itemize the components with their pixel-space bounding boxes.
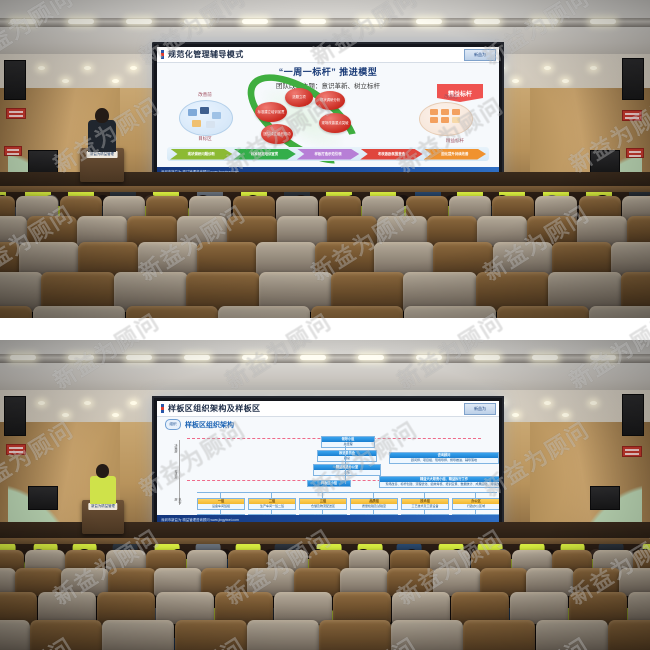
panel-divider: [0, 318, 650, 340]
slide-body-bottom: 组织 样板区组织架构 决策层 推进层 执行层 领导小组: [157, 416, 499, 515]
before-state-bubble: [179, 100, 233, 136]
ceiling-light: [184, 355, 210, 360]
process-step-line: 问题诊断: [201, 152, 215, 156]
process-step-line: 考核激励: [378, 152, 392, 156]
node-leadership-body: 总经理: [322, 442, 374, 447]
speaker-right-upper: [622, 58, 644, 100]
ceiling-downlight: [544, 66, 551, 70]
auditorium-seat: [497, 306, 589, 318]
section-badge: 组织: [165, 419, 181, 430]
ceiling-light: [300, 355, 326, 360]
cycle-node-3: 现场改善重点突破: [319, 113, 351, 133]
ceiling-downlight: [512, 413, 519, 417]
ceiling-downlight: [38, 66, 45, 70]
caption-benchmark: 精益标杆: [425, 138, 485, 144]
ceiling-downlight: [84, 401, 91, 405]
ceiling-downlight: [590, 66, 597, 70]
auditorium-seat: [0, 306, 32, 318]
speaker-left-lower: [28, 150, 58, 174]
process-step-2: 样板打造示范引领: [297, 149, 359, 160]
process-step-line: 样板打造: [314, 152, 328, 156]
cycle-node-line: 标准建立: [257, 110, 271, 114]
slide-logo-top: 新益为: [464, 49, 496, 61]
slide-main-title: “一周一标杆” 推进模型: [157, 65, 499, 78]
auditorium-seat: [247, 620, 319, 650]
ceiling-downlight: [130, 66, 137, 70]
process-step-3: 考核激励氛围营造: [360, 149, 422, 160]
presenter-head-bottom: [96, 464, 109, 478]
auditorium-seat: [138, 242, 198, 276]
org-box: 技术组工艺技术及工装设备: [401, 498, 449, 510]
connector-horizontal-columns: [197, 492, 497, 493]
org-column-connector: [220, 509, 221, 514]
caption-after: 改善后: [421, 94, 481, 100]
ceiling-downlight: [562, 79, 569, 83]
org-chart: 决策层 推进层 执行层 领导小组 总经理 推进委员会 副总: [173, 436, 491, 511]
slide-body-top: “一周一标杆” 推进模型 团队改善主题：意识革新、树立标杆 精益标杆 改善前 目…: [157, 62, 499, 167]
ceiling-bottom: [0, 340, 650, 390]
podium-bottom: 新益为精益管理: [82, 500, 124, 534]
ceiling-light: [68, 355, 94, 360]
slide-logo-bottom: 新益为: [464, 403, 496, 415]
auditorium-seat: [463, 620, 535, 650]
ceiling-light: [10, 19, 36, 24]
speaker-right-upper-bottom: [622, 394, 644, 436]
ceiling-light-row-bottom: [0, 355, 650, 361]
ceiling-light: [532, 355, 558, 360]
slide-top: 规范化管理辅导模式 新益为 “一周一标杆” 推进模型 团队改善主题：意识革新、树…: [157, 47, 499, 177]
auditorium-seat: [433, 242, 493, 276]
org-col-sub: 行政办公区域: [453, 504, 499, 509]
cycle-node-line: 团队成立: [263, 132, 277, 136]
node-committee: 推进委员会 副总: [317, 450, 377, 462]
org-column-connector: [322, 509, 323, 514]
cycle-node-line: 现状调研: [320, 98, 334, 102]
ceiling-downlight: [112, 413, 119, 417]
org-column-connector: [475, 509, 476, 514]
process-step-line: 氛围营造: [391, 152, 405, 156]
ceiling-light: [416, 355, 442, 360]
node-consultant-body: 顾问师、项目组、现场导师、督导推进、辅导落地: [390, 458, 498, 463]
podium-nameplate-bottom: 新益为精益管理: [88, 503, 117, 510]
cycle-node-line: 现场改善: [321, 121, 335, 125]
node-duties-body: 现场改善、标杆创建、流程优化、绩效考核、培训宣贯、数据统计、成果固化、持续改进: [380, 482, 499, 487]
ceiling-light: [590, 19, 616, 24]
cycle-node-line: 立项: [299, 95, 306, 99]
auditorium-seat: [19, 242, 79, 276]
slide-title-top: 规范化管理辅导模式: [168, 49, 244, 60]
ceiling-light: [184, 19, 210, 24]
ceiling-downlight: [62, 79, 69, 83]
auditorium-seat: [315, 242, 375, 276]
ceiling-light: [358, 355, 384, 360]
cycle-node-line: 选题: [292, 95, 299, 99]
photo-panel-bottom: 样板区组织架构及样板区 新益为 组织 样板区组织架构 决策层 推进层 执行层: [0, 340, 650, 650]
auditorium-seat: [552, 242, 612, 276]
org-column-connector: [373, 509, 374, 514]
photo-panel-top: 规范化管理辅导模式 新益为 “一周一标杆” 推进模型 团队改善主题：意识革新、树…: [0, 0, 650, 318]
exit-sign-right-2: [626, 148, 644, 158]
screenshot-root: 规范化管理辅导模式 新益为 “一周一标杆” 推进模型 团队改善主题：意识革新、树…: [0, 0, 650, 650]
process-step-1: 标准制定培训宣贯: [233, 149, 295, 160]
ceiling-light: [474, 355, 500, 360]
auditorium-seat: [102, 620, 174, 650]
speaker-left-lower-bottom: [28, 486, 58, 510]
ceiling-light: [590, 355, 616, 360]
process-step-line: 持续改善: [455, 152, 469, 156]
axis-label-1: 推进层: [174, 470, 178, 479]
exit-sign-left-bottom: [6, 444, 26, 455]
cycle-node-1: 现状调研分析: [315, 91, 345, 110]
axis-label-2: 执行层: [174, 498, 182, 505]
slide-header-mark-bottom: [161, 404, 164, 413]
org-col-sub: 设备车间班组: [198, 504, 244, 509]
ceiling-light-row: [0, 19, 650, 25]
exit-sign-left-2: [4, 146, 22, 156]
org-column-connector: [424, 509, 425, 514]
org-box: 品质组质量检验及试验室: [350, 498, 398, 510]
auditorium-seat: [0, 242, 20, 276]
acoustic-panel-right-bottom: [532, 420, 642, 538]
exit-sign-right-1: [622, 110, 642, 121]
audience-area-bottom: [0, 544, 650, 650]
org-box: 三组仓储及物流配送区: [299, 498, 347, 510]
slide-header-mark: [161, 50, 164, 59]
auditorium-seat: [391, 620, 463, 650]
process-step-0: 现状调研问题诊断: [170, 149, 232, 160]
ceiling-downlight: [62, 413, 69, 417]
node-duties: 精益六大职责小组、精益执行工作 现场改善、标杆创建、流程优化、绩效考核、培训宣贯…: [379, 476, 499, 488]
cycle-node-line: 分析: [333, 98, 340, 102]
ceiling-light: [416, 19, 442, 24]
org-box: 一组设备车间班组: [197, 498, 245, 510]
ceiling-downlight: [590, 401, 597, 405]
section-heading-row: 组织 样板区组织架构: [165, 419, 499, 430]
ceiling-light: [358, 19, 384, 24]
slide-title-bottom: 样板区组织架构及样板区: [168, 403, 260, 414]
org-level-axis: 决策层 推进层 执行层: [175, 440, 185, 505]
speaker-right-lower: [590, 150, 620, 174]
caption-target-area: 目标区: [175, 136, 235, 142]
exit-sign-left-1: [6, 108, 26, 119]
auditorium-seat: [218, 306, 310, 318]
ceiling-light: [300, 19, 326, 24]
auditorium-seat: [611, 242, 650, 276]
process-step-line: 现状调研: [188, 152, 202, 156]
ceiling-downlight: [544, 401, 551, 405]
podium-nameplate-top: 新益为精益管理: [87, 151, 118, 158]
auditorium-seat: [33, 306, 125, 318]
axis-line: [179, 440, 180, 505]
slide-bottom: 样板区组织架构及样板区 新益为 组织 样板区组织架构 决策层 推进层 执行层: [157, 401, 499, 525]
after-state-bubble: [419, 102, 473, 136]
connector-vertical-main: [345, 446, 346, 484]
node-office-body: 主任: [314, 470, 380, 475]
ceiling-light: [126, 19, 152, 24]
auditorium-seat: [374, 242, 434, 276]
auditorium-seat: [589, 306, 650, 318]
auditorium-seat: [0, 620, 30, 650]
auditorium-seat: [256, 242, 316, 276]
auditorium-seat: [175, 620, 247, 650]
cycle-node-line: 组织推动: [277, 132, 291, 136]
org-column-connector: [271, 509, 272, 514]
cycle-node-4: 团队成立组织推动: [261, 124, 293, 144]
org-box: 二组生产车间一班二班: [248, 498, 296, 510]
auditorium-seat: [493, 242, 553, 276]
auditorium-seat: [311, 306, 403, 318]
process-chevron-row: 现状调研问题诊断标准制定培训宣贯样板打造示范引领考核激励氛围营造固化提升持续改善: [167, 147, 489, 161]
presenter-body-top: [88, 120, 116, 152]
projection-screen-top: 规范化管理辅导模式 新益为 “一周一标杆” 推进模型 团队改善主题：意识革新、树…: [152, 42, 504, 182]
process-step-line: 培训宣贯: [265, 152, 279, 156]
improvement-cycle: 选题立项 现状调研分析 标准建立培训宣贯 现场改善重点突破 团队成立组织推动: [239, 88, 367, 150]
auditorium-seat: [30, 620, 102, 650]
axis-label-0: 决策层: [174, 444, 178, 453]
exit-sign-right-bottom: [622, 446, 642, 457]
audience-area-top: [0, 192, 650, 318]
process-step-line: 固化提升: [441, 152, 455, 156]
ceiling-downlight: [38, 401, 45, 405]
presenter-vest-bottom: [90, 476, 116, 504]
ceiling-light: [532, 19, 558, 24]
slide-header-top: 规范化管理辅导模式 新益为: [157, 47, 499, 63]
auditorium-seat: [404, 306, 496, 318]
node-model-area-title: 样板区小组: [308, 481, 350, 486]
cycle-node-0: 选题立项: [285, 88, 313, 107]
auditorium-seat: [536, 620, 608, 650]
ceiling-light: [68, 19, 94, 24]
section-title: 样板区组织架构: [185, 420, 234, 430]
org-col-sub: 工艺技术及工装设备: [402, 504, 448, 509]
caption-before: 改善前: [175, 92, 235, 98]
ceiling-light: [474, 19, 500, 24]
org-col-sub: 质量检验及试验室: [351, 504, 397, 509]
org-col-sub: 生产车间一班二班: [249, 504, 295, 509]
ceiling-light: [242, 355, 268, 360]
cycle-node-line: 重点突破: [335, 121, 349, 125]
ceiling-light: [242, 19, 268, 24]
org-col-sub: 仓储及物流配送区: [300, 504, 346, 509]
process-step-line: 示范引领: [328, 152, 342, 156]
ceiling-downlight: [84, 66, 91, 70]
auditorium-seat: [319, 620, 391, 650]
auditorium-seat: [197, 242, 257, 276]
presenter-head-top: [95, 108, 109, 123]
process-step-4: 固化提升持续改善: [424, 149, 486, 160]
speaker-right-lower-bottom: [590, 486, 620, 510]
node-consultant: 咨询顾问 顾问师、项目组、现场导师、督导推进、辅导落地: [389, 452, 499, 464]
speaker-left-upper-bottom: [4, 396, 26, 436]
auditorium-seat: [78, 242, 138, 276]
ceiling-downlight: [562, 413, 569, 417]
auditorium-seat: [126, 306, 218, 318]
node-office: 精益推进办公室 主任: [313, 464, 381, 476]
cycle-node-2: 标准建立培训宣贯: [255, 102, 287, 122]
speaker-left-upper: [4, 60, 26, 100]
ceiling-light: [10, 355, 36, 360]
slide-header-bottom: 样板区组织架构及样板区 新益为: [157, 401, 499, 417]
auditorium-seat: [608, 620, 650, 650]
podium-top: 新益为精益管理: [80, 148, 124, 182]
ceiling-downlight: [130, 401, 137, 405]
node-leadership: 领导小组 总经理: [321, 436, 375, 448]
ceiling-light: [126, 355, 152, 360]
ceiling-downlight: [112, 79, 119, 83]
node-committee-body: 副总: [318, 456, 376, 461]
process-step-line: 标准制定: [251, 152, 265, 156]
ceiling-downlight: [512, 79, 519, 83]
projection-screen-bottom: 样板区组织架构及样板区 新益为 组织 样板区组织架构 决策层 推进层 执行层: [152, 396, 504, 530]
cycle-node-line: 培训宣贯: [271, 110, 285, 114]
